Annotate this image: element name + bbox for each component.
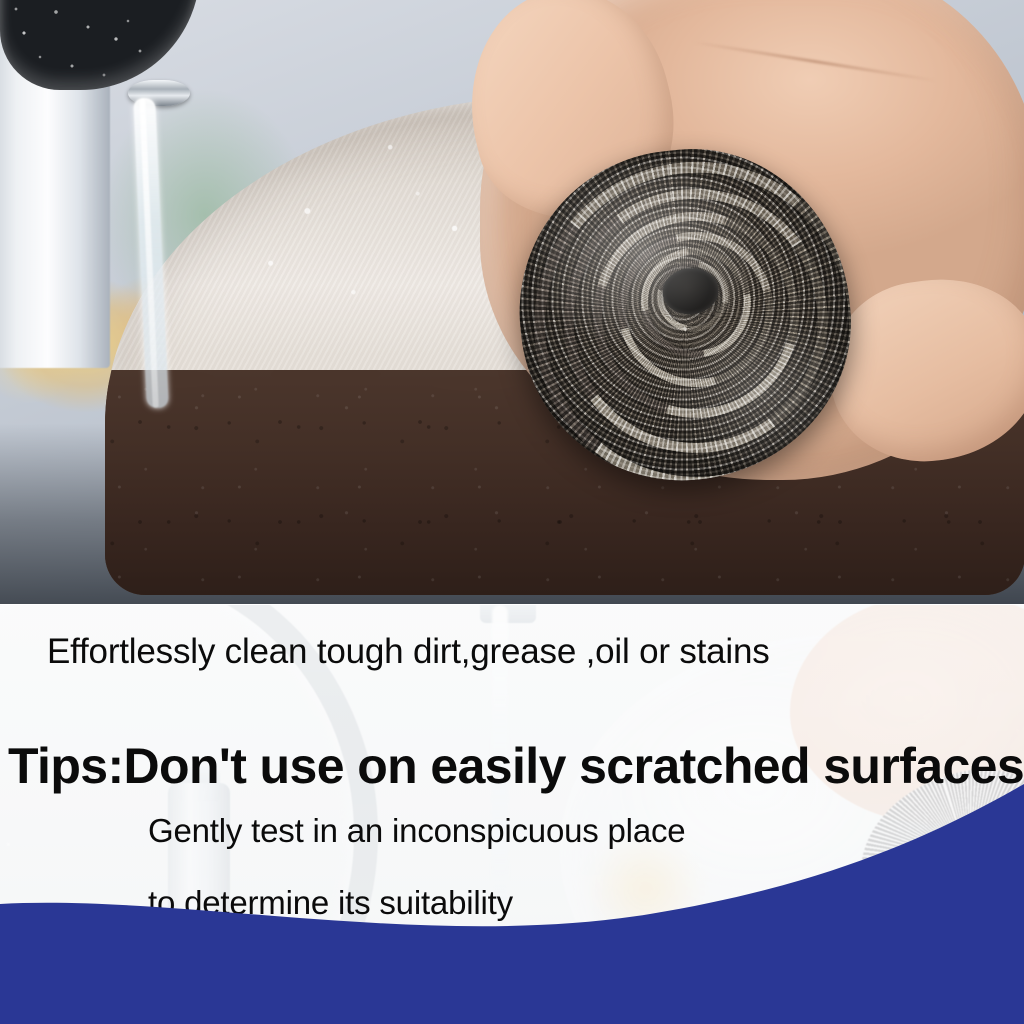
scrubber-sheen (504, 134, 867, 497)
wave-blue-band (0, 784, 1024, 1024)
steel-wool-scrubber (504, 134, 867, 497)
faucet-water-droplets (0, 0, 200, 90)
top-product-photo (0, 0, 1024, 605)
product-image-canvas: Effortlessly clean tough dirt,grease ,oi… (0, 0, 1024, 1024)
footer-wave (0, 754, 1024, 1024)
benefit-text: Effortlessly clean tough dirt,grease ,oi… (47, 632, 770, 672)
